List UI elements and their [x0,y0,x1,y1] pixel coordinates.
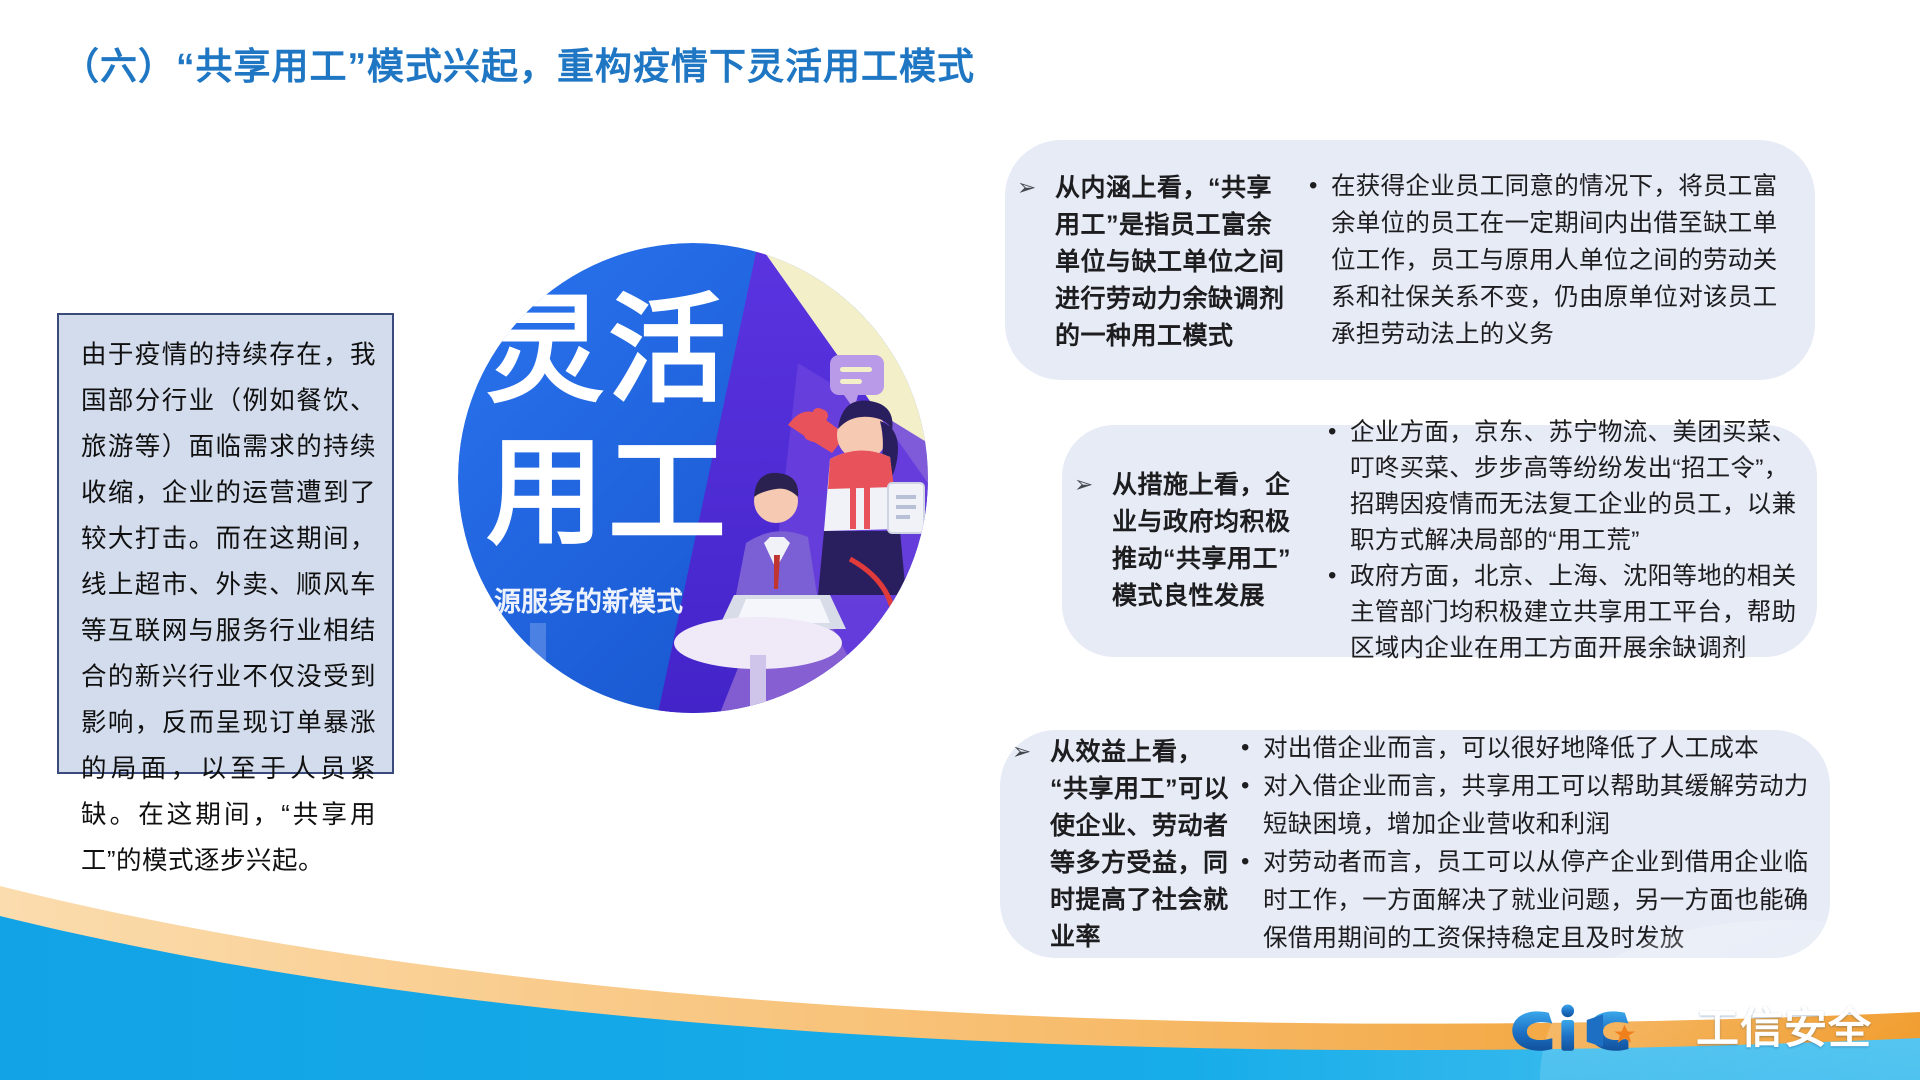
card-measures-heading: 从措施上看，企业与政府均积极推动“共享用工”模式良性发展 [1112,467,1312,615]
list-item: 政府方面，北京、上海、沈阳等地的相关主管部门均积极建立共享用工平台，帮助区域内企… [1324,559,1799,667]
illustration-headline-2: 用工 [486,427,730,559]
brand-logo-text: 工信安全 [1696,1008,1872,1051]
brand-logo: 工信安全 [1507,1000,1872,1058]
card-connotation-heading: 从内涵上看，“共享用工”是指员工富余单位与缺工单位之间进行劳动力余缺调剂的一种用… [1055,170,1285,355]
card-measures[interactable]: ➢ 从措施上看，企业与政府均积极推动“共享用工”模式良性发展 企业方面，京东、苏… [1062,425,1817,657]
card-measures-body: 企业方面，京东、苏宁物流、美团买菜、叮咚买菜、步步高等纷纷发出“招工令”，招聘因… [1324,415,1817,667]
flexible-employment-illustration: 灵活 用工 [458,243,928,713]
illustration-svg: 灵活 用工 [458,243,928,713]
list-item: 在获得企业员工同意的情况下，将员工富余单位的员工在一定期间内出借至缺工单位工作，… [1305,168,1797,353]
list-item: 对入借企业而言，共享用工可以帮助其缓解劳动力短缺困境，增加企业营收和利润 [1237,768,1812,844]
card-connotation-body: 在获得企业员工同意的情况下，将员工富余单位的员工在一定期间内出借至缺工单位工作，… [1299,168,1815,353]
arrow-right-icon: ➢ [1012,740,1038,763]
slide-root: （六）“共享用工”模式兴起，重构疫情下灵活用工模式 由于疫情的持续存在，我国部分… [0,0,1920,1080]
list-item: 对出借企业而言，可以很好地降低了人工成本 [1237,730,1812,768]
left-description-box: 由于疫情的持续存在，我国部分行业（例如餐饮、旅游等）面临需求的持续收缩，企业的运… [57,313,394,774]
card-connotation[interactable]: ➢ 从内涵上看，“共享用工”是指员工富余单位与缺工单位之间进行劳动力余缺调剂的一… [1005,140,1815,380]
card-connotation-head: ➢ 从内涵上看，“共享用工”是指员工富余单位与缺工单位之间进行劳动力余缺调剂的一… [1005,166,1299,355]
page-title: （六）“共享用工”模式兴起，重构疫情下灵活用工模式 [62,36,975,90]
left-description-text: 由于疫情的持续存在，我国部分行业（例如餐饮、旅游等）面临需求的持续收缩，企业的运… [81,332,376,884]
card-measures-bullets: 企业方面，京东、苏宁物流、美团买菜、叮咚买菜、步步高等纷纷发出“招工令”，招聘因… [1324,415,1799,667]
card-measures-head: ➢ 从措施上看，企业与政府均积极推动“共享用工”模式良性发展 [1062,467,1324,615]
card-connotation-bullets: 在获得企业员工同意的情况下，将员工富余单位的员工在一定期间内出借至缺工单位工作，… [1305,168,1797,353]
arrow-right-icon: ➢ [1017,176,1043,199]
arrow-right-icon: ➢ [1074,473,1100,496]
cic-logo-icon [1507,1000,1688,1058]
illustration-headline-1: 灵活 [486,285,730,417]
illustration-caption: 源服务的新模式 [494,586,683,617]
list-item: 企业方面，京东、苏宁物流、美团买菜、叮咚买菜、步步高等纷纷发出“招工令”，招聘因… [1324,415,1799,559]
